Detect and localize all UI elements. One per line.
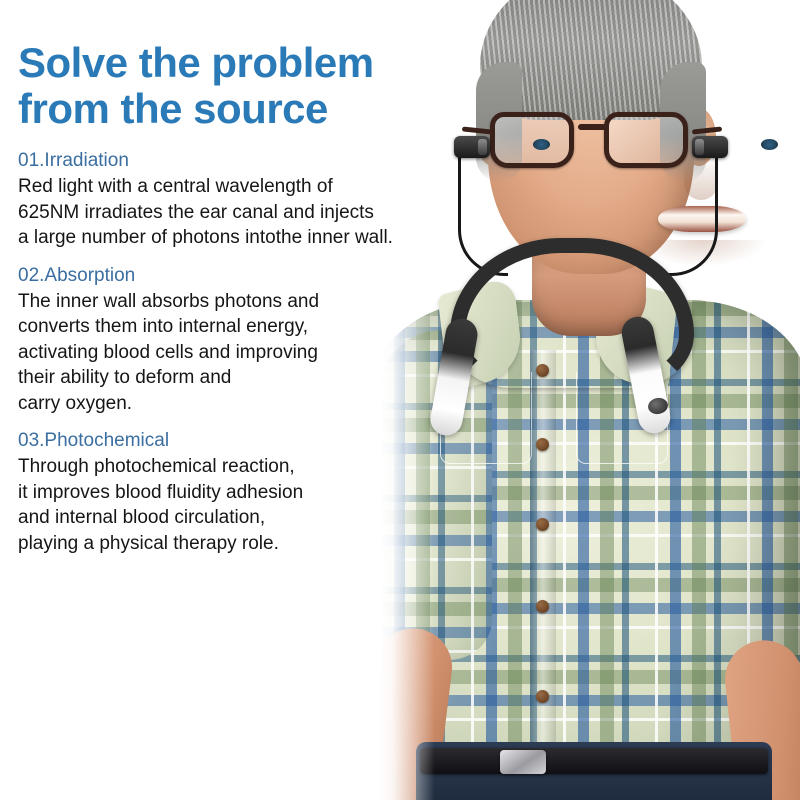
shirt-button — [536, 600, 549, 613]
shirt-button — [536, 438, 549, 451]
copy-column: Solve the problem from the source 01.Irr… — [18, 40, 448, 568]
eye-right — [761, 139, 778, 150]
shirt-button — [536, 518, 549, 531]
page-title: Solve the problem from the source — [18, 40, 448, 132]
shirt-button-placket — [530, 350, 556, 780]
section-title-absorption: 02.Absorption — [18, 263, 448, 288]
section-body-absorption: The inner wall absorbs photons and conve… — [18, 289, 448, 417]
benefit-sections: 01.Irradiation Red light with a central … — [18, 148, 448, 556]
section-title-photochemical: 03.Photochemical — [18, 428, 448, 453]
section-body-photochemical: Through photochemical reaction, it impro… — [18, 454, 448, 556]
promo-page: Solve the problem from the source 01.Irr… — [0, 0, 800, 800]
earbud-left — [454, 136, 490, 158]
section-photochemical: 03.Photochemical Through photochemical r… — [18, 428, 448, 556]
section-absorption: 02.Absorption The inner wall absorbs pho… — [18, 263, 448, 417]
belt — [420, 748, 768, 774]
eye-left — [533, 139, 550, 150]
eyeglasses — [486, 112, 698, 172]
shirt-button — [536, 690, 549, 703]
section-irradiation: 01.Irradiation Red light with a central … — [18, 148, 448, 251]
belt-buckle — [500, 750, 546, 774]
section-body-irradiation: Red light with a central wavelength of 6… — [18, 174, 448, 251]
earbud-right — [692, 136, 728, 158]
section-title-irradiation: 01.Irradiation — [18, 148, 448, 173]
eyeglass-bridge — [578, 124, 606, 130]
